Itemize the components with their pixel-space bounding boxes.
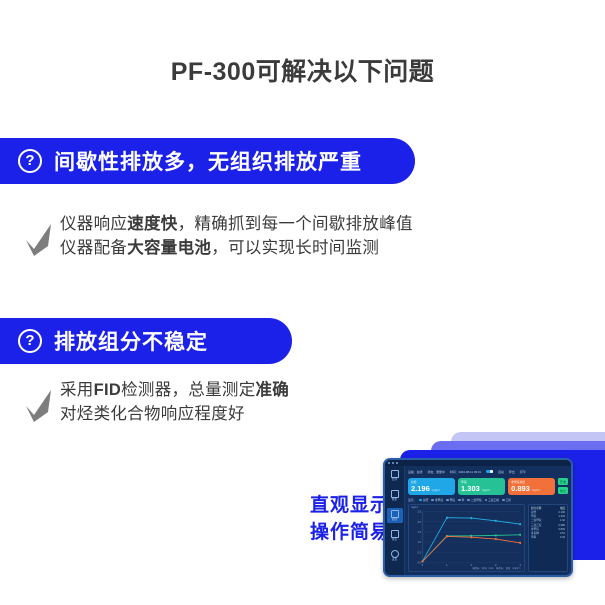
chart-icon [391, 510, 399, 518]
solution-line: 仪器配备大容量电池，可以实现长时间监测 [60, 236, 413, 260]
sidebar-item-label: 设置 [392, 559, 397, 562]
table-row: 甲苯0.33 [531, 536, 565, 540]
radio-label: 三氯乙烯 [488, 498, 499, 502]
solution-line-pre: 仪器响应 [60, 215, 127, 233]
svg-text:1.0: 1.0 [418, 540, 422, 544]
solution-line-bold: 大容量电池 [127, 239, 211, 257]
solution-block-2: 采用FID检测器，总量测定准确 对烃类化合物响应程度好 [24, 378, 289, 426]
trend-chart: mg/m³ 0.00.51.01.52.02.501234 横坐标：时间（min… [408, 504, 525, 572]
promo-page: PF-300可解决以下问题 ? 间歇性排放多，无组织排放严重 仪器响应速度快，精… [0, 0, 605, 605]
chart-axis-note: 横坐标：时间（min） 纵坐标：浓度（mg/m³） [472, 566, 522, 570]
metric-card-methane: 甲烷 1.303 mg/m³ [458, 478, 505, 495]
metric-card-unit: mg/m³ [532, 488, 540, 492]
solution-line-bold: 速度快 [127, 215, 177, 233]
radio-dot-icon [446, 499, 449, 502]
header-measure-status: 状态：测量中 [427, 470, 444, 474]
svg-text:1.5: 1.5 [418, 530, 422, 534]
action-buttons: 开 始 停 止 [558, 478, 568, 495]
svg-text:0.5: 0.5 [418, 550, 422, 554]
metric-card-value: 0.893 [511, 485, 530, 493]
solution-line: 采用FID检测器，总量测定准确 [60, 378, 289, 402]
solution-line: 仪器响应速度快，精确抓到每一个间歇排放峰值 [60, 212, 413, 236]
table-cell-value: 0.33 [560, 536, 565, 540]
question-mark-circle-icon: ? [18, 149, 42, 173]
radio-dot-icon [431, 499, 434, 502]
radio-dot-icon [485, 499, 488, 502]
app-body: mg/m³ 0.00.51.01.52.02.501234 横坐标：时间（min… [408, 504, 568, 572]
sidebar-item-settings[interactable]: 设置 [387, 548, 403, 563]
header-print-button[interactable]: 打印 [520, 470, 526, 474]
metric-card-unit: mg/m³ [432, 488, 440, 492]
solution-line-pre: 采用 [60, 381, 94, 399]
solution-line-pre: 仪器配备 [60, 239, 127, 257]
series-filter-label: 显示： [408, 498, 416, 502]
header-time: 时间：2023-08-11 09:31 [450, 470, 481, 474]
radio-label: 苯 [462, 498, 465, 502]
metric-card-value: 2.196 [411, 485, 430, 493]
radio-dot-icon [419, 499, 422, 502]
sidebar-item-chart[interactable]: 曲线 [387, 508, 403, 523]
solution-line: 对烃类化合物响应程度好 [60, 402, 289, 426]
radio-option[interactable]: 三氯乙烯 [485, 498, 499, 502]
sidebar-item-monitor[interactable]: 监测 [387, 468, 403, 483]
sidebar-item-label: 报表 [392, 539, 397, 542]
solution-line-post: ，可以实现长时间监测 [211, 239, 379, 257]
settings-icon [391, 550, 399, 558]
problem-banner-1-label: 间歇性排放多，无组织排放严重 [54, 146, 362, 176]
solution-line-bold-2: 准确 [256, 381, 290, 399]
metric-card-total-hydrocarbon: 总烃 2.196 mg/m³ [408, 478, 455, 495]
sidebar-item-label: 监测 [392, 479, 397, 482]
svg-text:2.5: 2.5 [418, 509, 422, 513]
topbar-dot-icon [392, 462, 394, 464]
metric-cards: 总烃 2.196 mg/m³ 甲烷 1.303 mg/m³ [408, 478, 568, 495]
solution-line-bold: FID [94, 381, 121, 399]
radio-label: 二氯甲烷 [471, 498, 482, 502]
tablet-topbar [385, 460, 571, 466]
header-toggle-label: 自动 [498, 470, 504, 474]
auto-mode-toggle[interactable] [486, 470, 493, 474]
header-export-button[interactable]: 导出 [509, 470, 515, 474]
device-illustration: 监测 数据 曲线 报表 设置 [383, 432, 605, 592]
svg-text:0: 0 [422, 563, 424, 567]
radio-label: 甲烷 [450, 498, 455, 502]
radio-dot-icon [458, 499, 461, 502]
radio-label: 非甲烷 [435, 498, 443, 502]
radio-option[interactable]: 二氯甲烷 [467, 498, 481, 502]
radio-option[interactable]: 乙醇 [502, 498, 511, 502]
sidebar-item-data[interactable]: 数据 [387, 488, 403, 503]
chart-canvas: 0.00.51.01.52.02.501234 [409, 505, 524, 571]
app-sidebar: 监测 数据 曲线 报表 设置 [385, 460, 405, 575]
radio-label: 总烃 [423, 498, 428, 502]
header-device-status: 设备：在线 [408, 470, 422, 474]
table-cell-name: 甲苯 [531, 536, 536, 540]
radio-option[interactable]: 总烃 [419, 498, 428, 502]
svg-text:2.0: 2.0 [418, 519, 422, 523]
sidebar-item-label: 曲线 [392, 519, 397, 522]
problem-banner-1: ? 间歇性排放多，无组织排放严重 [0, 138, 415, 184]
svg-text:1: 1 [446, 563, 448, 567]
metric-card-label: 非甲烷总烃 [511, 481, 552, 484]
radio-option[interactable]: 甲烷 [446, 498, 455, 502]
topbar-dot-icon [388, 462, 390, 464]
data-icon [391, 490, 399, 498]
solution-line-post: 检测器，总量测定 [121, 381, 255, 399]
device-caption-line-1: 直观显示 [310, 492, 390, 519]
check-icon [24, 218, 54, 258]
metric-card-nmhc: 非甲烷总烃 0.893 mg/m³ [508, 478, 555, 495]
device-caption: 直观显示 操作简易 [310, 492, 390, 546]
topbar-dot-icon [396, 462, 398, 464]
metric-card-value: 1.303 [461, 485, 480, 493]
start-button[interactable]: 开 始 [558, 478, 568, 485]
monitor-icon [391, 470, 399, 478]
app-header: 设备：在线 状态：测量中 时间：2023-08-11 09:31 自动 导出 打… [408, 468, 568, 475]
stop-button[interactable]: 停 止 [558, 487, 568, 494]
metric-card-label: 总烃 [411, 481, 452, 484]
component-table: 组分名称 浓度 总烃2.196 甲烷1.303 二氯甲烷1.02 三氯乙烷0.9… [528, 504, 568, 572]
tablet-device: 监测 数据 曲线 报表 设置 [383, 458, 573, 577]
metric-card-label: 甲烷 [461, 481, 502, 484]
radio-dot-icon [467, 499, 470, 502]
metric-card-unit: mg/m³ [482, 488, 490, 492]
solution-block-1: 仪器响应速度快，精确抓到每一个间歇排放峰值 仪器配备大容量电池，可以实现长时间监… [24, 212, 413, 260]
radio-dot-icon [502, 499, 505, 502]
report-icon [391, 530, 399, 538]
problem-banner-2: ? 排放组分不稳定 [0, 318, 292, 364]
question-mark-circle-icon: ? [18, 329, 42, 353]
page-title: PF-300可解决以下问题 [0, 52, 605, 88]
solution-line-pre: 对烃类化合物响应程度好 [60, 405, 245, 423]
radio-option[interactable]: 非甲烷 [431, 498, 443, 502]
check-icon [24, 384, 54, 424]
sidebar-item-label: 数据 [392, 499, 397, 502]
problem-banner-2-label: 排放组分不稳定 [54, 326, 208, 356]
series-filter-radios: 显示： 总烃 非甲烷 甲烷 苯 二氯甲烷 三氯乙烯 乙醇 [408, 498, 568, 502]
solution-line-post: ，精确抓到每一个间歇排放峰值 [178, 215, 413, 233]
app-main: 设备：在线 状态：测量中 时间：2023-08-11 09:31 自动 导出 打… [405, 460, 571, 575]
radio-label: 乙醇 [506, 498, 511, 502]
sidebar-item-report[interactable]: 报表 [387, 528, 403, 543]
radio-option[interactable]: 苯 [458, 498, 464, 502]
device-caption-line-2: 操作简易 [310, 519, 390, 546]
